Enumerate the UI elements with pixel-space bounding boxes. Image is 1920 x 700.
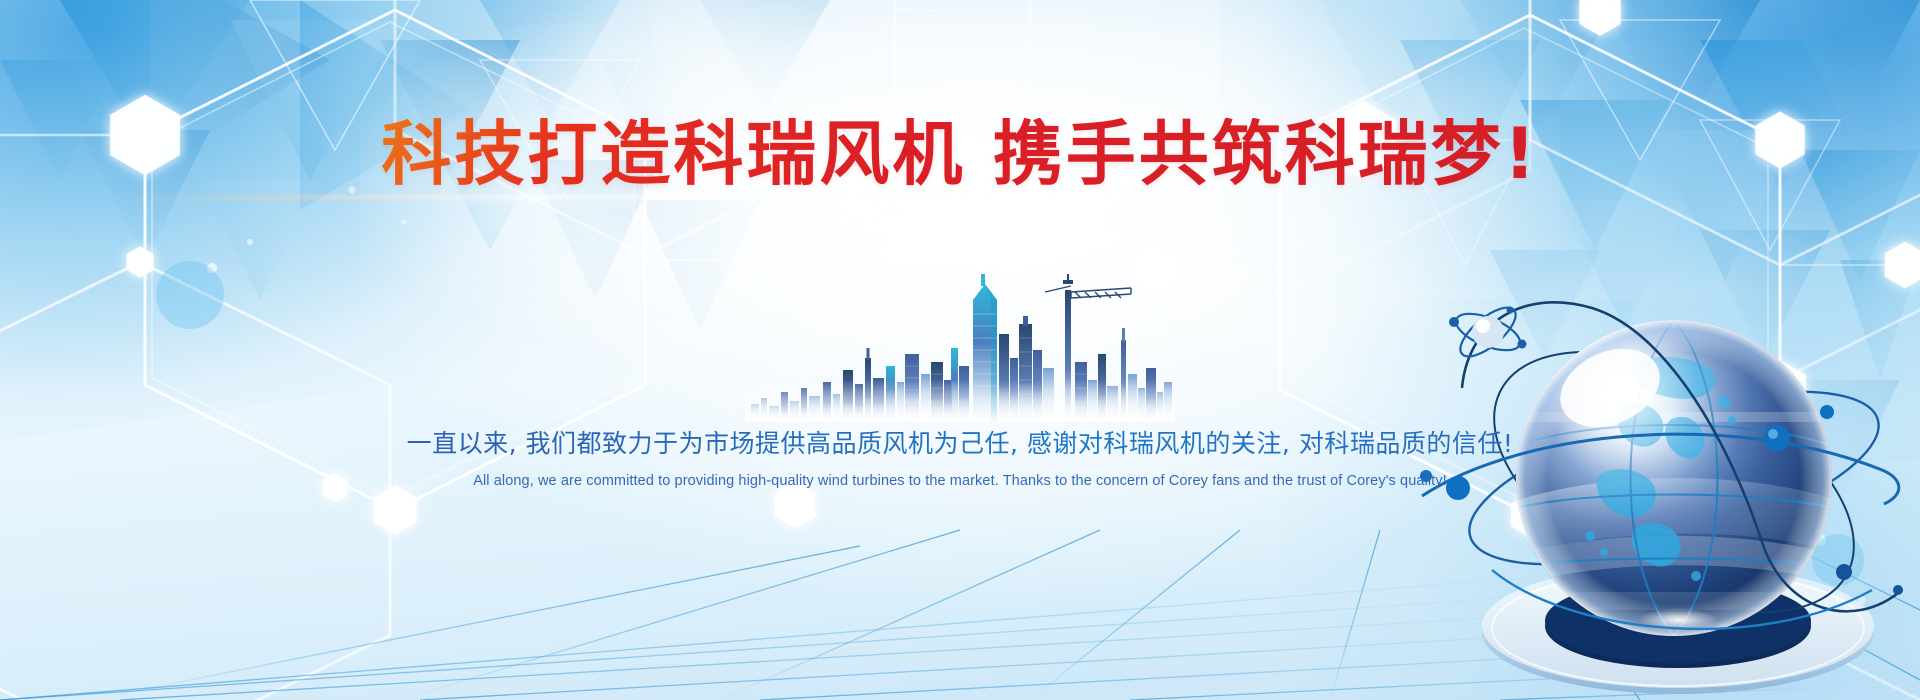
light-streak — [120, 196, 1020, 199]
promo-banner: 科技打造科瑞风机 携手共筑科瑞梦! 一直以来, 我们都致力于为市场提供高品质风机… — [0, 0, 1920, 700]
subtitle-container: 一直以来, 我们都致力于为市场提供高品质风机为己任, 感谢对科瑞风机的关注, 对… — [0, 424, 1920, 489]
city-skyline-silhouette — [745, 262, 1175, 422]
banner-headline: 科技打造科瑞风机 携手共筑科瑞梦! — [381, 118, 1538, 192]
headline-container: 科技打造科瑞风机 携手共筑科瑞梦! — [0, 118, 1920, 192]
subtitle-english: All along, we are committed to providing… — [0, 473, 1920, 489]
blue-wash-top-left — [0, 0, 695, 452]
subtitle-chinese: 一直以来, 我们都致力于为市场提供高品质风机为己任, 感谢对科瑞风机的关注, 对… — [0, 424, 1920, 460]
